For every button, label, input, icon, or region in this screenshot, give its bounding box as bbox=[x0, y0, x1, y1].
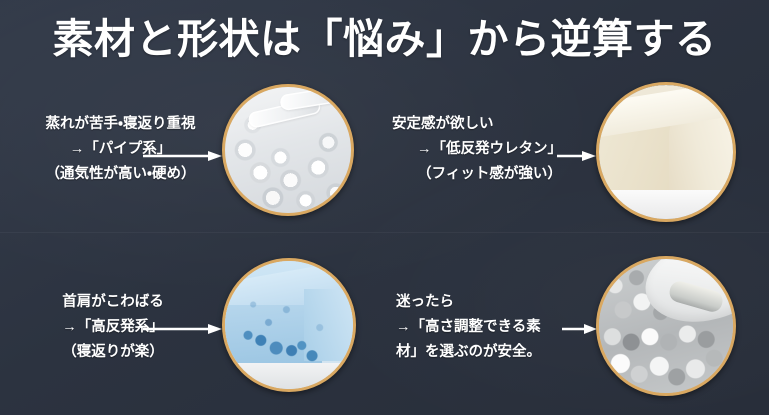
slide-canvas: 素材と形状は「悩み」から逆算する 蒸れが苦手・寝返り重視 →「パイプ系」 （通気… bbox=[0, 0, 769, 415]
long-right-arrow-icon bbox=[143, 323, 223, 335]
short-right-arrow-icon bbox=[557, 150, 597, 162]
page-title: 素材と形状は「悩み」から逆算する bbox=[0, 8, 769, 70]
blue-foam-base-surface bbox=[225, 363, 353, 389]
card-adjustable-line-1: 迷ったら bbox=[396, 290, 606, 315]
card-high-rebound-line-1: 首肩がこわばる bbox=[18, 290, 208, 315]
high-rebound-blue-foam-photo bbox=[222, 258, 356, 392]
foam-photo-inner bbox=[599, 85, 733, 219]
card-low-rebound-line-1: 安定感が欲しい bbox=[392, 112, 587, 137]
card-adjustable-line-3: 材」を選ぶのが安全。 bbox=[396, 340, 606, 365]
row-divider bbox=[0, 232, 769, 233]
card-pipe-line-3: （通気性が高い・硬め） bbox=[18, 162, 223, 187]
card-low-rebound-line-3: （フィット感が強い） bbox=[392, 162, 587, 187]
white-pipe-material-photo bbox=[222, 84, 354, 216]
blue-foam-photo-inner bbox=[225, 261, 353, 389]
foam-base-surface bbox=[599, 190, 733, 219]
pellet-photo-inner bbox=[599, 259, 733, 393]
long-right-arrow-icon bbox=[143, 150, 223, 162]
card-high-rebound-line-3: （寝返りが楽） bbox=[18, 340, 208, 365]
adjustable-height-pellet-material-photo bbox=[596, 256, 736, 396]
low-rebound-urethane-foam-photo bbox=[596, 82, 736, 222]
pipe-photo-inner bbox=[225, 87, 351, 213]
card-pipe-line-1: 蒸れが苦手・寝返り重視 bbox=[18, 112, 223, 137]
short-right-arrow-icon bbox=[562, 323, 598, 335]
